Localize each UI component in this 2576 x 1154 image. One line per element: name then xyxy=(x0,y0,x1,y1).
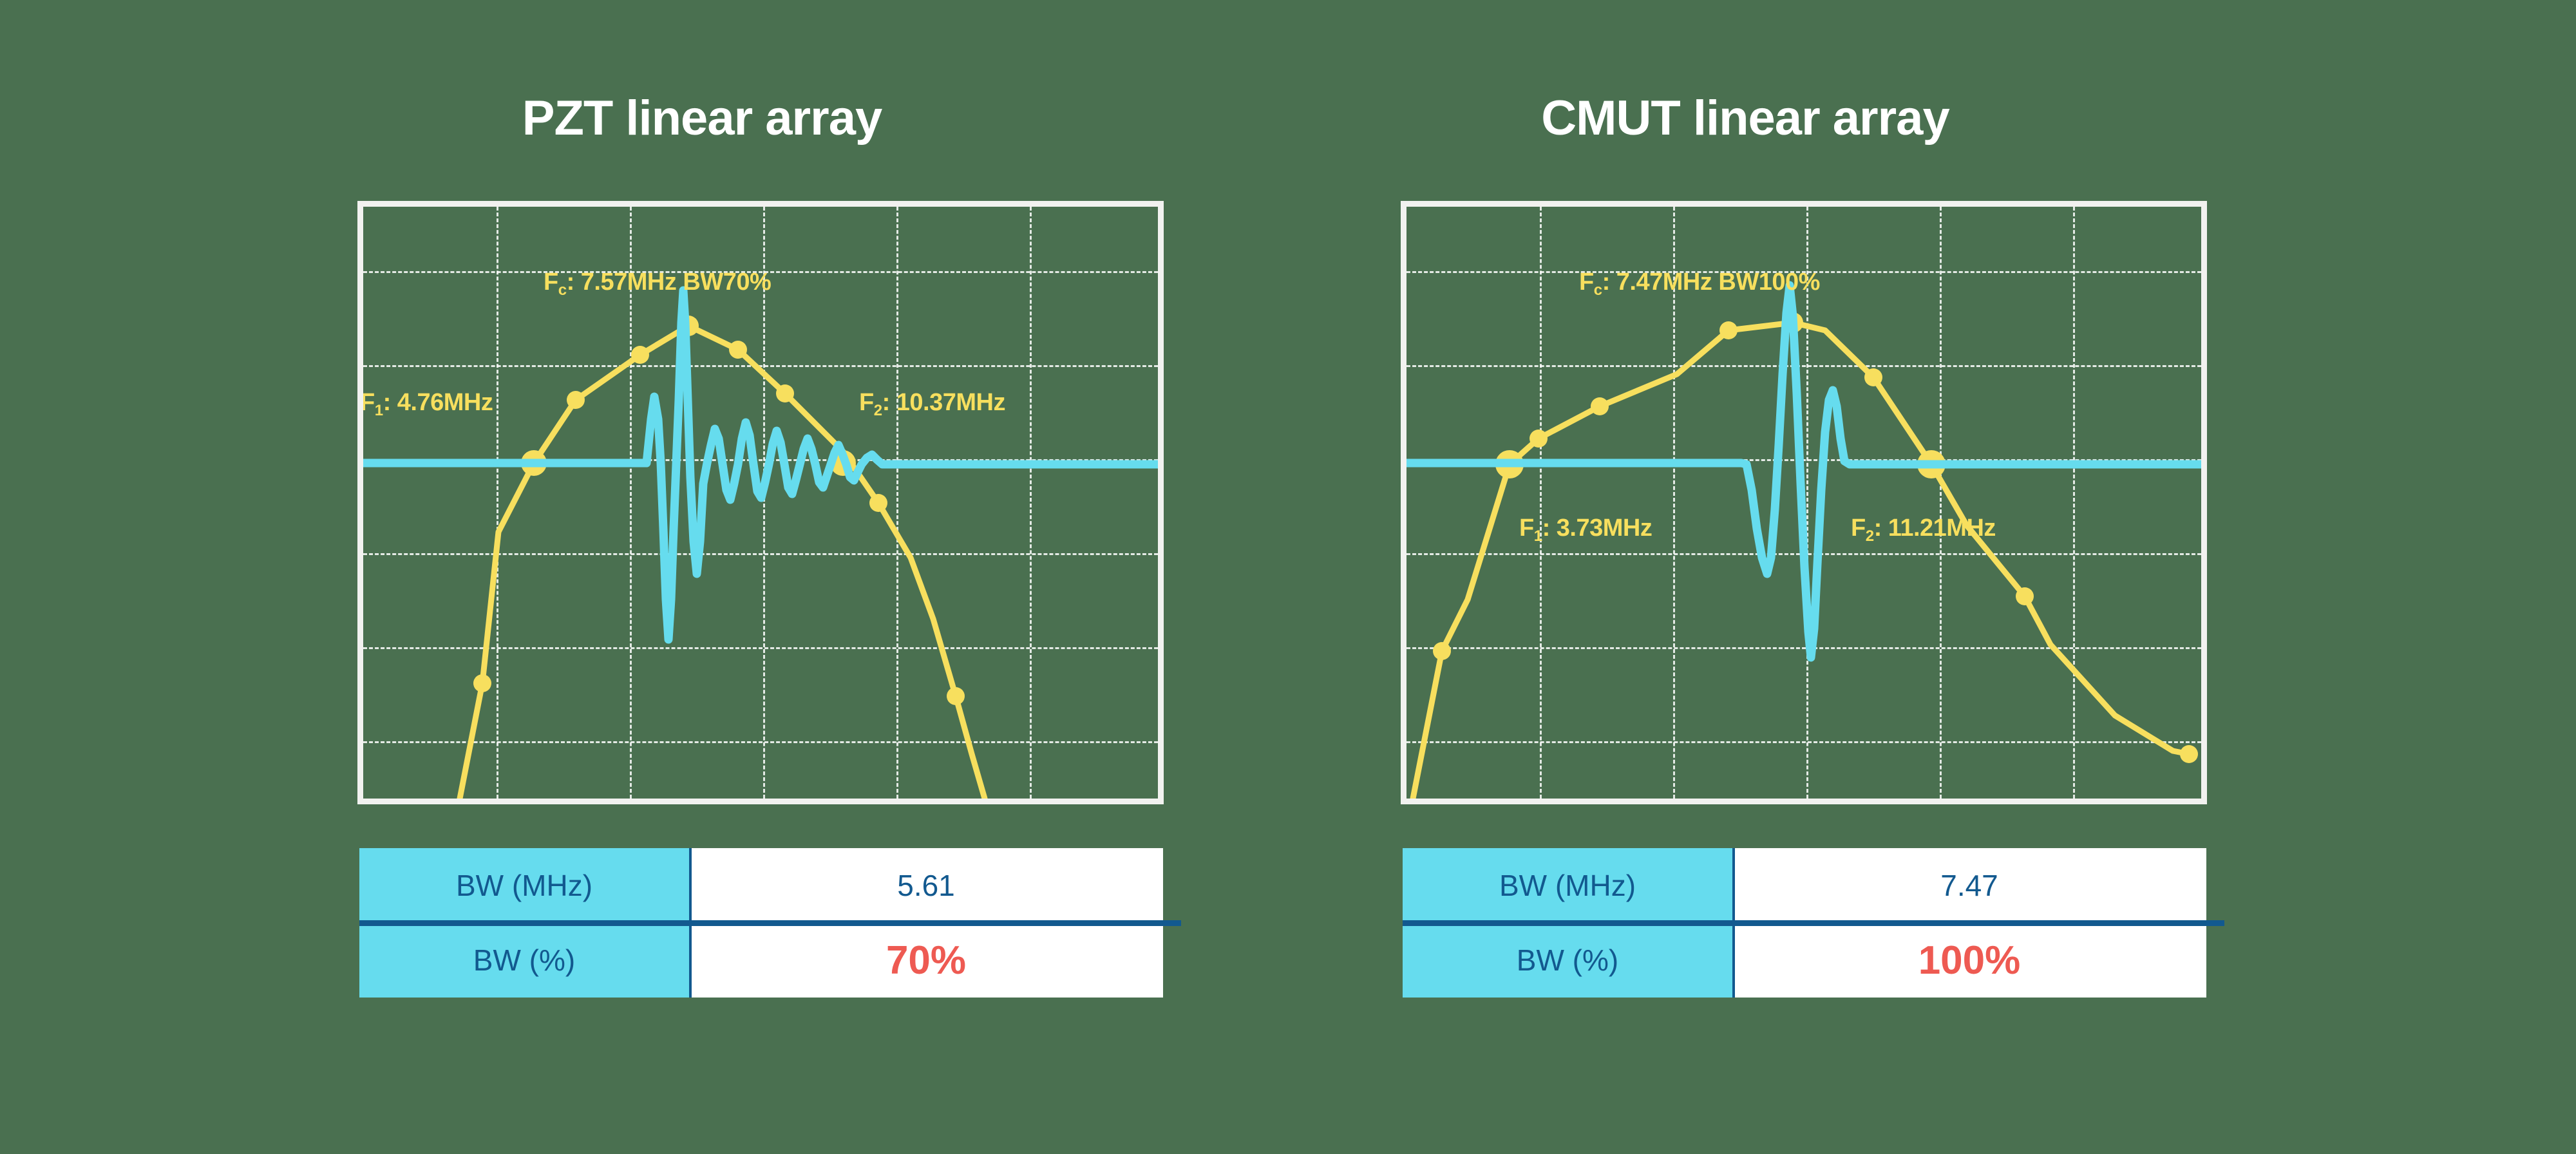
annotation-f2-sub: 2 xyxy=(1866,527,1874,545)
annotation-fc-text: : 7.57MHz BW70% xyxy=(567,269,772,296)
impulse-curve-pzt xyxy=(363,290,1158,639)
page-title-pzt: PZT linear array xyxy=(251,90,1153,146)
page-title-cmut: CMUT linear array xyxy=(1294,90,2196,146)
annotation-f2-cmut: F2: 11.21MHz xyxy=(1851,515,1996,542)
plot-inner-cmut: Fc: 7.47MHz BW100% F1: 3.73MHz F2: 11.21… xyxy=(1406,207,2201,799)
plot-inner-pzt: Fc: 7.57MHz BW70% F1: 4.76MHz F2: 10.37M… xyxy=(363,207,1158,799)
plot-box-pzt: Fc: 7.57MHz BW70% F1: 4.76MHz F2: 10.37M… xyxy=(357,201,1164,804)
annotation-f2-text: : 10.37MHz xyxy=(882,389,1005,416)
figure-canvas: PZT linear array xyxy=(0,0,2576,1154)
spectrum-markers-pzt xyxy=(473,316,965,705)
table-value-bw-mhz: 7.47 xyxy=(1732,848,2206,923)
annotation-f1-prefix: F xyxy=(360,389,375,416)
panel-pzt: PZT linear array xyxy=(251,0,1153,1154)
annotation-f1-cmut: F1: 3.73MHz xyxy=(1519,515,1652,542)
table-row: BW (MHz) 7.47 xyxy=(1403,848,2206,923)
table-value-bw-pct: 70% xyxy=(689,923,1163,998)
impulse-curve-cmut xyxy=(1406,285,2201,657)
annotation-f1-prefix: F xyxy=(1519,515,1534,542)
table-header-bw-pct: BW (%) xyxy=(1403,923,1732,998)
annotation-fc-prefix: F xyxy=(544,269,558,296)
annotation-f1-sub: 1 xyxy=(375,402,383,419)
annotation-f1-text: : 4.76MHz xyxy=(383,389,493,416)
annotation-f2-prefix: F xyxy=(1851,515,1866,542)
table-horizontal-separator xyxy=(1403,920,2224,926)
annotation-fc-text: : 7.47MHz BW100% xyxy=(1602,269,1820,296)
plot-box-cmut: Fc: 7.47MHz BW100% F1: 3.73MHz F2: 11.21… xyxy=(1401,201,2207,804)
table-horizontal-separator xyxy=(359,920,1181,926)
table-row: BW (%) 70% xyxy=(359,923,1163,998)
table-row: BW (MHz) 5.61 xyxy=(359,848,1163,923)
table-header-bw-mhz: BW (MHz) xyxy=(359,848,689,923)
annotation-fc-sub: c xyxy=(1594,281,1602,299)
annotation-f1-pzt: F1: 4.76MHz xyxy=(360,389,493,417)
annotation-f1-text: : 3.73MHz xyxy=(1542,515,1653,542)
table-header-bw-pct: BW (%) xyxy=(359,923,689,998)
annotation-f2-text: : 11.21MHz xyxy=(1874,515,1996,542)
table-header-bw-mhz: BW (MHz) xyxy=(1403,848,1732,923)
annotation-f2-sub: 2 xyxy=(874,402,882,419)
annotation-fc-cmut: Fc: 7.47MHz BW100% xyxy=(1579,269,1820,296)
annotation-f2-prefix: F xyxy=(859,389,874,416)
bw-table-pzt: BW (MHz) 5.61 BW (%) 70% xyxy=(359,848,1163,998)
panel-cmut: CMUT linear array xyxy=(1294,0,2196,1154)
table-value-bw-pct: 100% xyxy=(1732,923,2206,998)
annotation-fc-pzt: Fc: 7.57MHz BW70% xyxy=(544,269,771,296)
table-value-bw-mhz: 5.61 xyxy=(689,848,1163,923)
annotation-f1-sub: 1 xyxy=(1534,527,1542,545)
annotation-fc-prefix: F xyxy=(1579,269,1594,296)
annotation-fc-sub: c xyxy=(558,281,567,299)
bw-table-cmut: BW (MHz) 7.47 BW (%) 100% xyxy=(1403,848,2206,998)
table-row: BW (%) 100% xyxy=(1403,923,2206,998)
annotation-f2-pzt: F2: 10.37MHz xyxy=(859,389,1005,417)
